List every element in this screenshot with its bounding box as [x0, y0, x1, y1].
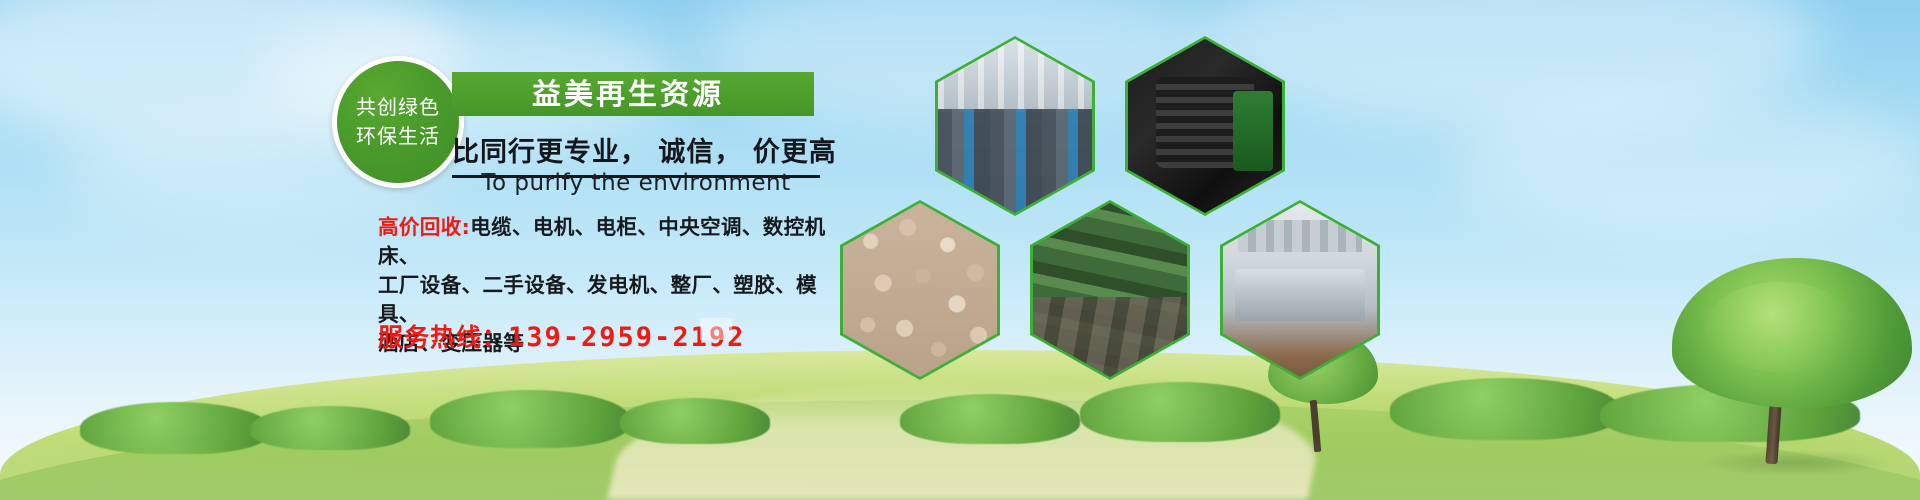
bush-decoration: [250, 406, 410, 450]
bush-decoration: [900, 394, 1080, 444]
hotline-label: 服务热线：: [378, 323, 508, 352]
slogan-chinese: 比同行更专业， 诚信， 价更高: [452, 130, 820, 169]
company-name-bar: 益美再生资源: [452, 72, 814, 116]
hex-photo-diesel-engine: [1125, 36, 1285, 216]
diesel-engine-icon: [1128, 39, 1282, 213]
badge-line-2: 环保生活: [356, 122, 440, 151]
hex-photo-cnc-workshop: [935, 36, 1095, 216]
cloud-decoration: [1200, 0, 1820, 130]
bush-decoration: [1390, 378, 1620, 440]
bush-decoration: [80, 402, 270, 454]
bush-decoration: [430, 390, 630, 448]
hotline-number: 139-2959-2192: [508, 322, 745, 353]
slogan-english: To purify the environment: [452, 170, 820, 196]
cloud-decoration: [1450, 90, 1920, 240]
tree-shadow: [1700, 450, 1890, 476]
badge-line-1: 共创绿色: [356, 93, 440, 122]
recycle-line-1: 高价回收:电缆、电机、电柜、中央空调、数控机床、: [378, 213, 848, 271]
bush-decoration: [620, 398, 770, 444]
tree-highlight: [1705, 282, 1855, 372]
cnc-workshop-icon: [938, 39, 1092, 213]
bush-decoration: [1080, 382, 1280, 442]
company-name: 益美再生资源: [532, 80, 724, 109]
recycle-label: 高价回收:: [378, 215, 470, 239]
service-hotline[interactable]: 服务热线：139-2959-2192: [378, 318, 745, 354]
promo-banner: 共创绿色 环保生活 益美再生资源 比同行更专业， 诚信， 价更高 To puri…: [0, 0, 1920, 500]
eco-circle-badge: 共创绿色 环保生活: [332, 56, 464, 188]
